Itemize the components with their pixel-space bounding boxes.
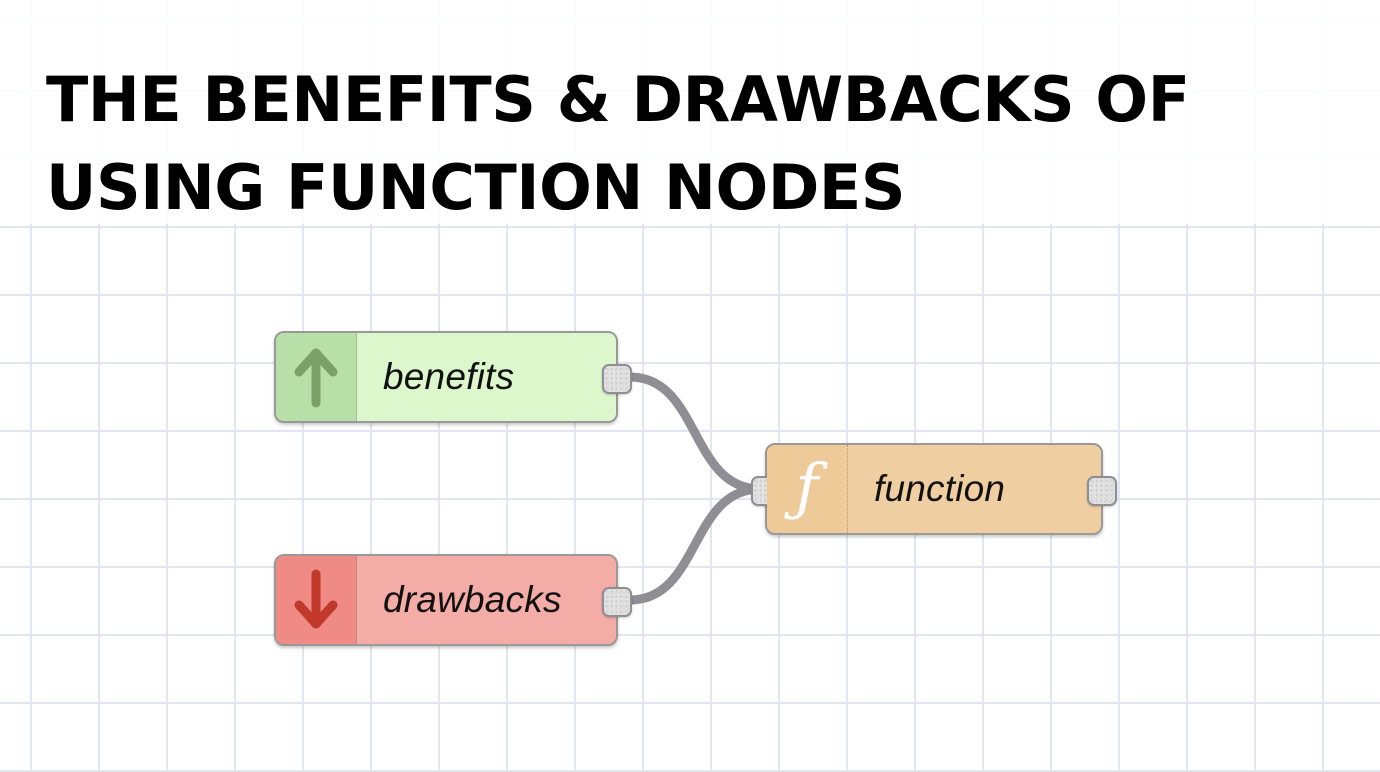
page-title: THE BENEFITS & DRAWBACKS OF USING FUNCTI… bbox=[46, 56, 1226, 232]
node-function[interactable]: ƒ function bbox=[765, 443, 1103, 535]
node-benefits-body: benefits bbox=[356, 333, 616, 421]
node-function-label: function bbox=[874, 468, 1005, 510]
wire-benefits-to-function bbox=[630, 377, 760, 489]
arrow-up-icon bbox=[293, 346, 339, 408]
node-drawbacks-output-port[interactable] bbox=[602, 587, 632, 617]
node-benefits[interactable]: benefits bbox=[274, 331, 618, 423]
node-drawbacks[interactable]: drawbacks bbox=[274, 554, 618, 646]
flow-canvas[interactable]: THE BENEFITS & DRAWBACKS OF USING FUNCTI… bbox=[0, 0, 1380, 772]
node-function-icon-area: ƒ bbox=[767, 445, 847, 533]
node-function-output-port[interactable] bbox=[1087, 476, 1117, 506]
node-drawbacks-icon-area bbox=[276, 556, 356, 644]
node-drawbacks-label: drawbacks bbox=[383, 579, 562, 621]
node-benefits-icon-area bbox=[276, 333, 356, 421]
node-drawbacks-body: drawbacks bbox=[356, 556, 616, 644]
node-benefits-label: benefits bbox=[383, 356, 514, 398]
arrow-down-icon bbox=[293, 569, 339, 631]
node-function-body: function bbox=[847, 445, 1101, 533]
wire-drawbacks-to-function bbox=[630, 489, 760, 600]
function-f-icon: ƒ bbox=[796, 456, 819, 518]
node-benefits-output-port[interactable] bbox=[602, 364, 632, 394]
